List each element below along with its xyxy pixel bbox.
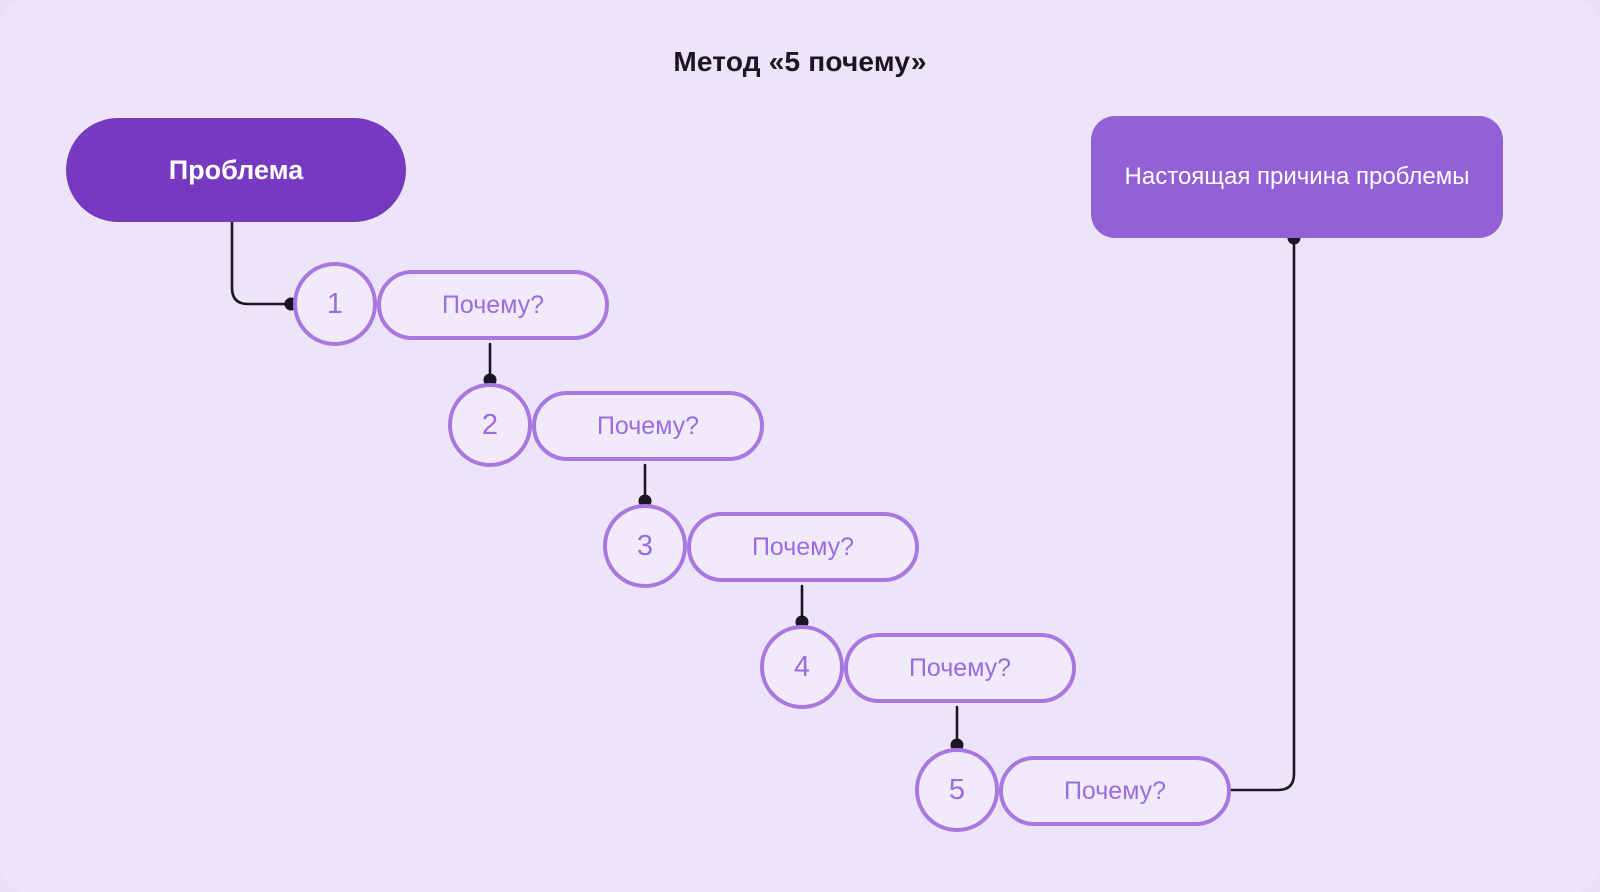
connector-problem-to-step-1 [232,220,289,304]
step-1-question-label: Почему? [442,291,544,320]
step-4-question-pill[interactable]: Почему? [844,633,1076,703]
problem-label: Проблема [169,155,304,186]
step-2-question-pill[interactable]: Почему? [532,391,764,461]
step-3-number-circle: 3 [603,504,687,588]
step-5-question-label: Почему? [1064,777,1166,806]
root-cause-node[interactable]: Настоящая причина проблемы [1091,116,1503,238]
connector-step-5-to-root-cause [1231,240,1294,790]
root-cause-label: Настоящая причина проблемы [1125,161,1470,193]
step-2-number: 2 [482,409,498,442]
step-3-number: 3 [637,530,653,563]
step-2-question-label: Почему? [597,412,699,441]
step-3-question-pill[interactable]: Почему? [687,512,919,582]
step-1-number-circle: 1 [293,262,377,346]
diagram-canvas: Метод «5 почему» Проблема Настоящая прич… [0,0,1600,892]
step-5-number-circle: 5 [915,748,999,832]
problem-node[interactable]: Проблема [66,118,406,222]
step-2-number-circle: 2 [448,383,532,467]
step-5-question-pill[interactable]: Почему? [999,756,1231,826]
step-4-number: 4 [794,651,810,684]
page-title: Метод «5 почему» [0,46,1600,78]
step-4-question-label: Почему? [909,654,1011,683]
step-3-question-label: Почему? [752,533,854,562]
step-1-number: 1 [327,288,343,321]
step-1-question-pill[interactable]: Почему? [377,270,609,340]
step-5-number: 5 [949,774,965,807]
step-4-number-circle: 4 [760,625,844,709]
